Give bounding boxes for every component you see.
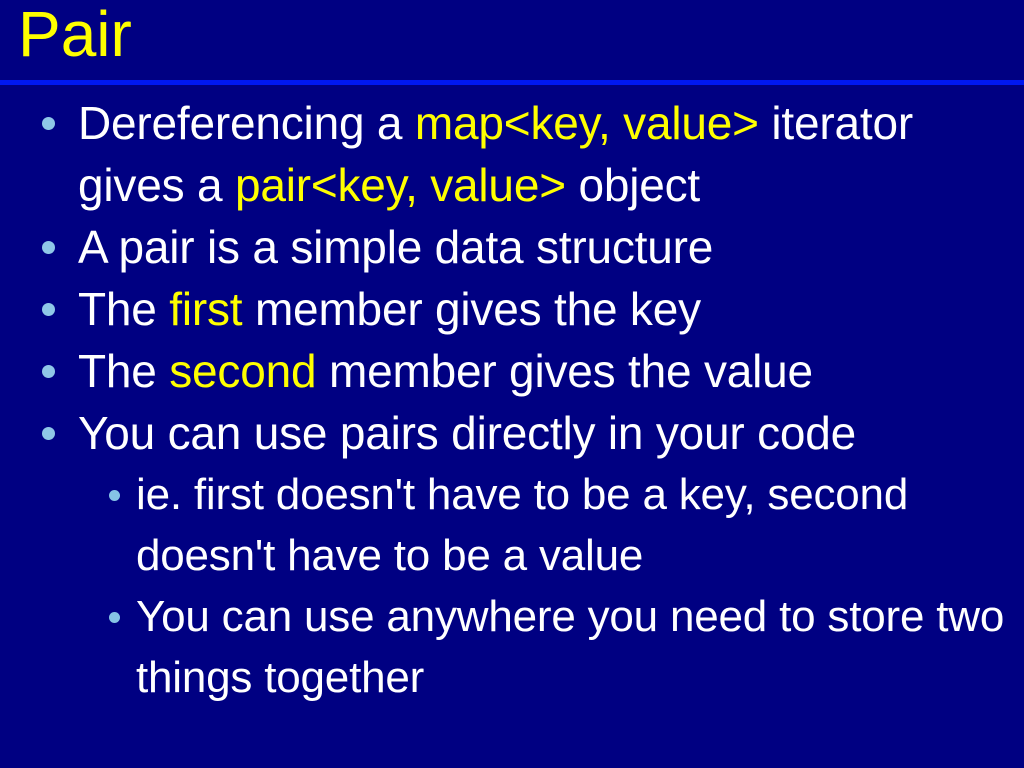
bullet-item: You can use pairs directly in your code	[0, 402, 1024, 464]
bullet-dot-icon	[42, 427, 55, 440]
slide-body: Dereferencing a map<key, value> iterator…	[0, 92, 1024, 708]
bullet-dot-icon	[42, 241, 55, 254]
code-term: first	[169, 283, 242, 335]
code-term: map<key, value>	[415, 97, 759, 149]
bullet-dot-icon	[42, 303, 55, 316]
bullet-text: You can use pairs directly in your code	[78, 407, 856, 459]
sub-bullet-item: You can use anywhere you need to store t…	[0, 586, 1024, 708]
bullet-item: The first member gives the key	[0, 278, 1024, 340]
bullet-text: ie. first doesn't have to be a key, seco…	[136, 470, 908, 580]
slide-title-area: Pair	[0, 0, 1024, 80]
bullet-item: A pair is a simple data structure	[0, 216, 1024, 278]
bullet-text: Dereferencing a	[78, 97, 415, 149]
sub-bullet-dot-icon	[109, 612, 120, 623]
bullet-text: You can use anywhere you need to store t…	[136, 592, 1004, 702]
bullet-text: The	[78, 283, 169, 335]
bullet-text: member gives the key	[242, 283, 701, 335]
page-title: Pair	[18, 0, 132, 72]
code-term: second	[169, 345, 316, 397]
code-term: pair<key, value>	[235, 159, 566, 211]
bullet-dot-icon	[42, 117, 55, 130]
bullet-text: object	[566, 159, 700, 211]
bullet-dot-icon	[42, 365, 55, 378]
bullet-list: Dereferencing a map<key, value> iterator…	[0, 92, 1024, 708]
bullet-text: member gives the value	[316, 345, 813, 397]
sub-bullet-dot-icon	[109, 490, 120, 501]
bullet-item: Dereferencing a map<key, value> iterator…	[0, 92, 1024, 216]
bullet-item: The second member gives the value	[0, 340, 1024, 402]
bullet-text: A pair is a simple data structure	[78, 221, 713, 273]
title-divider	[0, 80, 1024, 85]
sub-bullet-item: ie. first doesn't have to be a key, seco…	[0, 464, 1024, 586]
bullet-text: The	[78, 345, 169, 397]
presentation-slide: Pair Dereferencing a map<key, value> ite…	[0, 0, 1024, 768]
